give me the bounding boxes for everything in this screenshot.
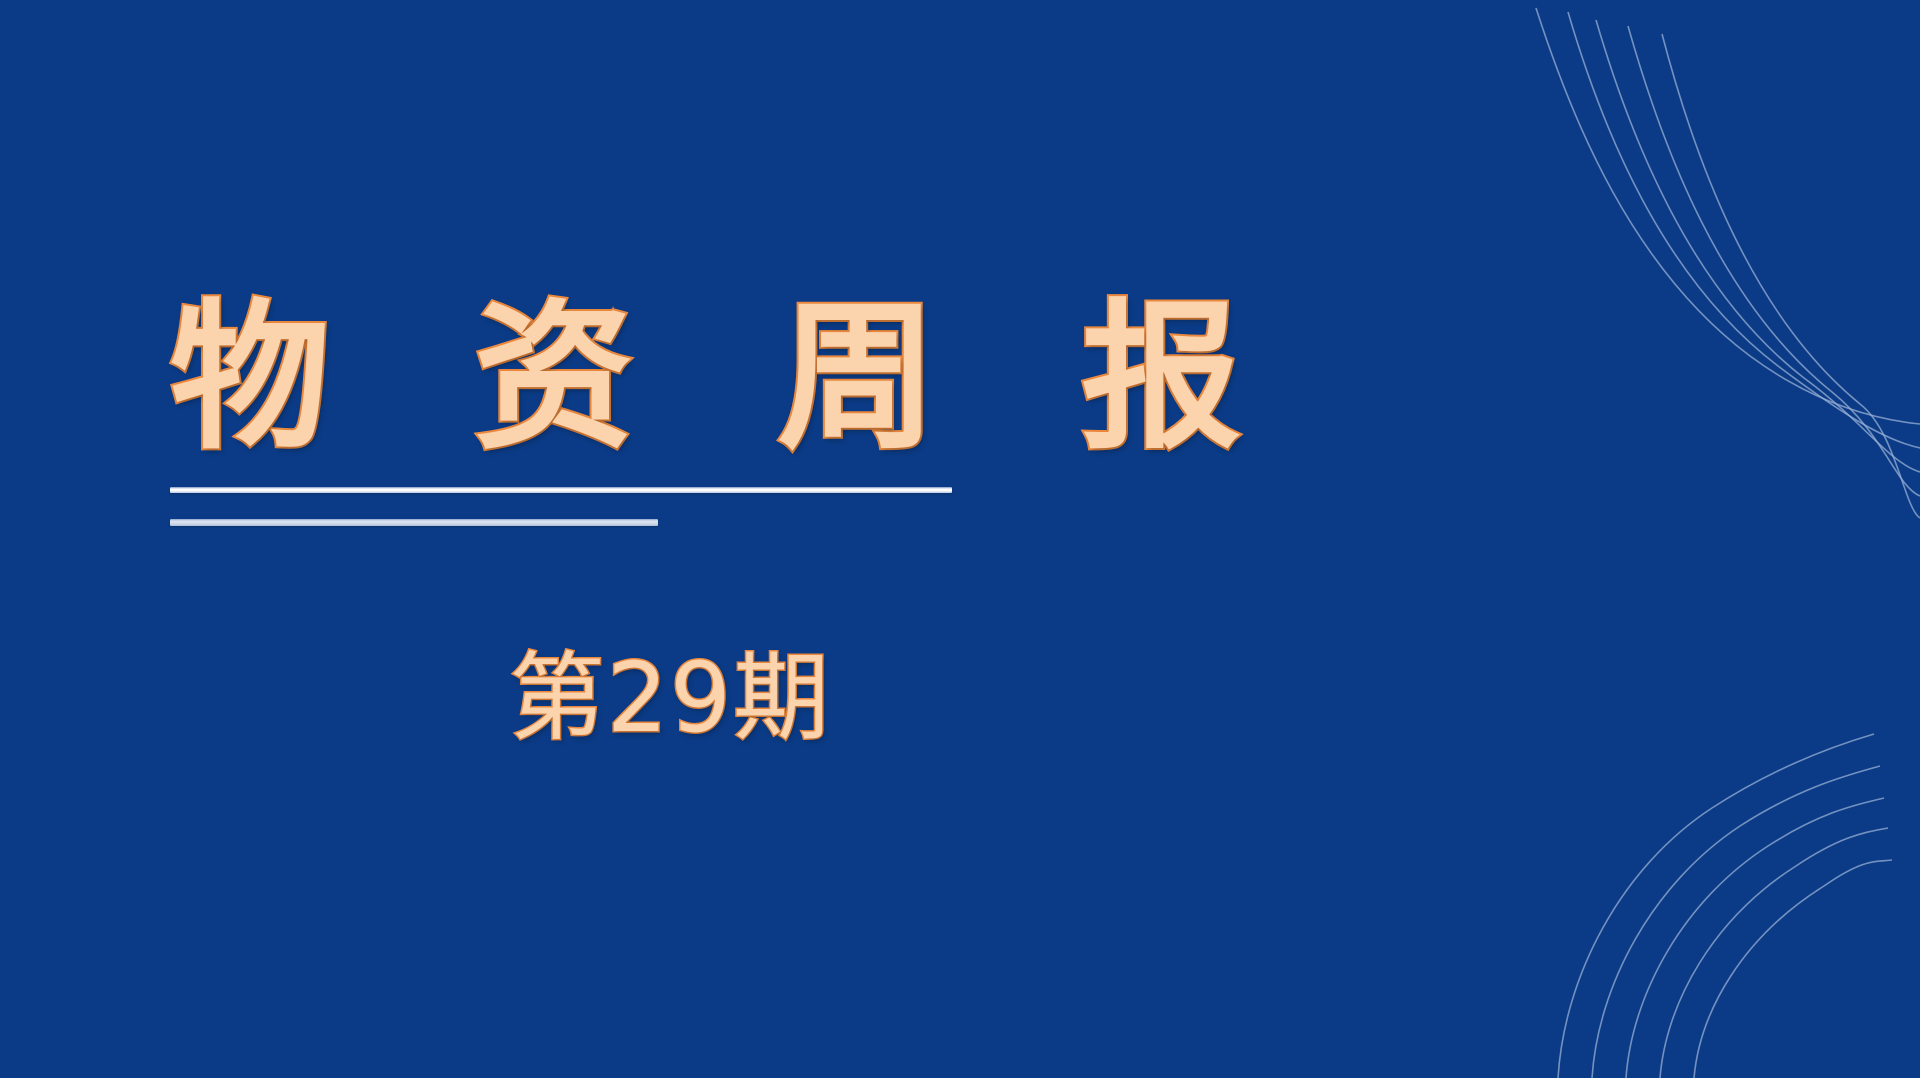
- page-title: 物 资 周 报: [170, 292, 1350, 463]
- wave-line-10: [1694, 860, 1892, 1078]
- divider-short: [170, 519, 658, 526]
- wave-lines-bottom-right-svg: [1440, 678, 1920, 1078]
- issue-subtitle: 第29期: [170, 646, 1170, 752]
- divider-group: [170, 487, 1350, 526]
- wave-line-8: [1626, 798, 1884, 1078]
- wave-lines-top-right-svg: [1280, 0, 1920, 540]
- wave-lines-top-right-decoration: [1280, 0, 1920, 540]
- wave-line-2: [1568, 12, 1920, 448]
- wave-line-6: [1558, 734, 1874, 1078]
- wave-line-1: [1536, 8, 1920, 424]
- slide-canvas: 物 资 周 报 第29期: [0, 0, 1920, 1078]
- wave-line-9: [1660, 828, 1888, 1078]
- divider-long: [170, 487, 952, 493]
- wave-line-4: [1628, 26, 1920, 496]
- title-block: 物 资 周 报: [170, 292, 1350, 526]
- wave-line-3: [1596, 20, 1920, 472]
- wave-line-5: [1662, 34, 1920, 518]
- wave-lines-bottom-right-decoration: [1440, 678, 1920, 1078]
- wave-line-7: [1592, 766, 1880, 1078]
